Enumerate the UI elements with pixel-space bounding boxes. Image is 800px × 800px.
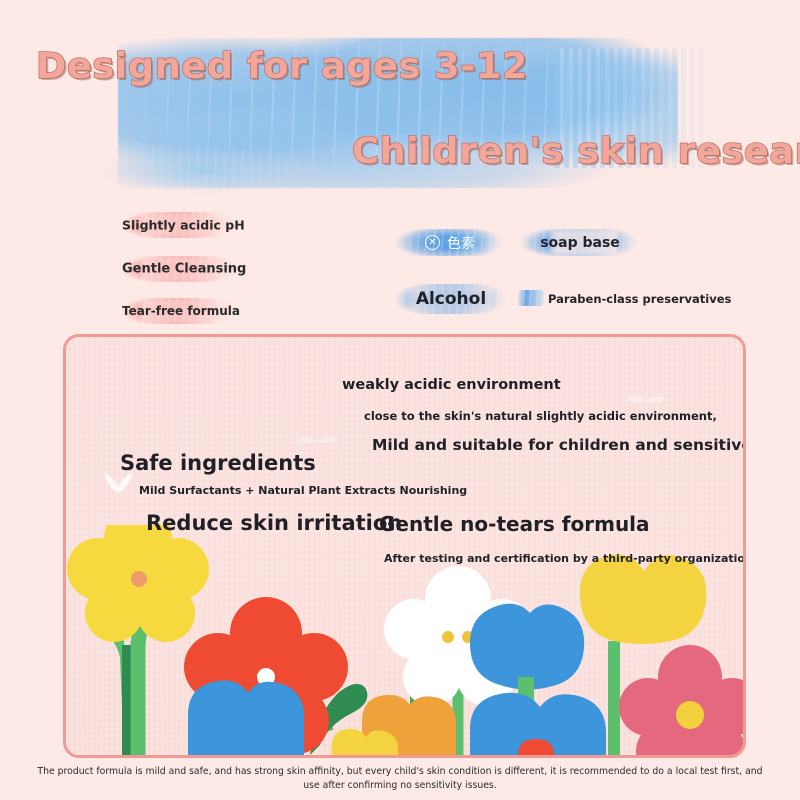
flower-blue-tulip-center xyxy=(470,604,606,755)
circle-x-icon: ✕ xyxy=(425,235,440,250)
card-bottom-subtext: After testing and certification by a thi… xyxy=(384,552,746,565)
headline-secondary: Children's skin research xyxy=(352,131,800,172)
free-from-tag-label: ✕ 色素 xyxy=(396,233,504,253)
benefit-tag-slightly-acidic-ph: Slightly acidic pH xyxy=(122,212,237,238)
headline-primary: Designed for ages 3-12 xyxy=(36,46,528,87)
benefit-tag-label: Slightly acidic pH xyxy=(122,218,237,233)
flower-center xyxy=(131,571,147,587)
benefit-tag-label: Tear-free formula xyxy=(122,304,235,318)
flower-center xyxy=(442,631,454,643)
free-from-tag-pigment: ✕ 色素 xyxy=(396,229,504,256)
card-bottom-heading: Gentle no-tears formula xyxy=(379,512,650,536)
free-from-tag-paraben: Paraben-class preservatives xyxy=(518,288,680,310)
flower-blue-tulip-left xyxy=(188,681,304,756)
free-from-tag-alcohol: Alcohol xyxy=(396,284,506,314)
flower-yellow-tulip xyxy=(580,555,707,644)
flower-pink xyxy=(619,645,746,755)
benefit-tag-tear-free-formula: Tear-free formula xyxy=(122,298,235,324)
flower-center xyxy=(676,701,704,729)
blue-brush-stroke xyxy=(518,290,544,306)
card-right-heading: weakly acidic environment xyxy=(342,377,561,393)
card-left-heading: Safe ingredients xyxy=(120,451,316,475)
butterfly-icon xyxy=(626,392,666,410)
butterfly-icon xyxy=(296,433,340,449)
card-right-emphasis: Mild and suitable for children and sensi… xyxy=(372,436,746,454)
free-from-tag-label: Paraben-class preservatives xyxy=(548,292,680,306)
card-left-subtext: Mild Surfactants + Natural Plant Extract… xyxy=(139,484,467,497)
benefit-tag-gentle-cleansing: Gentle Cleansing xyxy=(122,256,240,282)
benefit-tag-label: Gentle Cleansing xyxy=(122,262,240,277)
feature-card: weakly acidic environment close to the s… xyxy=(63,334,746,758)
free-from-tag-soap-base: soap base xyxy=(521,229,639,256)
free-from-tag-text: 色素 xyxy=(447,233,475,253)
card-right-subtext: close to the skin's natural slightly aci… xyxy=(364,409,717,423)
free-from-tag-label: Alcohol xyxy=(396,289,506,309)
free-from-tag-label: soap base xyxy=(521,235,639,251)
product-infographic: Designed for ages 3-12 Children's skin r… xyxy=(0,0,800,800)
blue-watercolor-lower-left xyxy=(100,140,330,200)
flower-yellow-daisy xyxy=(67,525,209,642)
card-left-emphasis: Reduce skin irritation xyxy=(146,511,402,535)
footer-disclaimer: The product formula is mild and safe, an… xyxy=(28,765,772,794)
